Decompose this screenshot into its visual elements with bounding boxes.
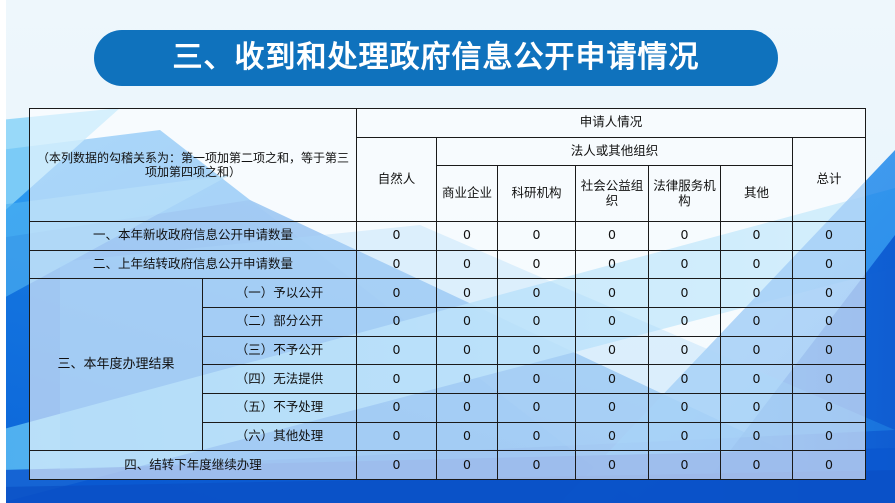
cell-value: 0 xyxy=(576,365,649,394)
cell-value: 0 xyxy=(576,451,649,480)
cell-value: 0 xyxy=(357,250,437,279)
cell-value: 0 xyxy=(721,307,793,336)
cell-value: 0 xyxy=(437,422,498,451)
cell-value: 0 xyxy=(576,221,649,250)
cell-value: 0 xyxy=(437,307,498,336)
cell-value: 0 xyxy=(498,451,576,480)
subrow-label-other-processing: （六）其他处理 xyxy=(203,422,357,451)
row-label-carried-over: 二、上年结转政府信息公开申请数量 xyxy=(30,250,357,279)
cell-value: 0 xyxy=(793,422,866,451)
cell-value: 0 xyxy=(793,365,866,394)
cell-value: 0 xyxy=(793,336,866,365)
cell-value: 0 xyxy=(576,250,649,279)
cell-value: 0 xyxy=(793,279,866,308)
cell-value: 0 xyxy=(721,250,793,279)
table-row: 一、本年新收政府信息公开申请数量 0 0 0 0 0 0 0 xyxy=(30,221,866,250)
row-label-new-received: 一、本年新收政府信息公开申请数量 xyxy=(30,221,357,250)
cell-value: 0 xyxy=(576,422,649,451)
cell-value: 0 xyxy=(576,307,649,336)
header-col-commercial-enterprise: 商业企业 xyxy=(437,166,498,222)
cell-value: 0 xyxy=(357,279,437,308)
application-statistics-table: （本列数据的勾稽关系为：第一项加第二项之和，等于第三项加第四项之和） 申请人情况… xyxy=(29,108,865,480)
header-col-other: 其他 xyxy=(721,166,793,222)
cell-value: 0 xyxy=(793,307,866,336)
cell-value: 0 xyxy=(721,221,793,250)
cell-value: 0 xyxy=(437,279,498,308)
cell-value: 0 xyxy=(649,279,721,308)
subrow-label-not-disclosed: （三）不予公开 xyxy=(203,336,357,365)
header-col-total: 总计 xyxy=(793,137,866,221)
cell-value: 0 xyxy=(498,365,576,394)
header-col-legal-service-org: 法律服务机构 xyxy=(649,166,721,222)
cell-value: 0 xyxy=(498,336,576,365)
table-row: 二、上年结转政府信息公开申请数量 0 0 0 0 0 0 0 xyxy=(30,250,866,279)
table-row: 三、本年度办理结果 （一）予以公开 0 0 0 0 0 0 0 xyxy=(30,279,866,308)
cell-value: 0 xyxy=(649,422,721,451)
cell-value: 0 xyxy=(357,365,437,394)
cell-value: 0 xyxy=(721,393,793,422)
cell-value: 0 xyxy=(357,422,437,451)
cell-value: 0 xyxy=(649,221,721,250)
header-col-natural-person: 自然人 xyxy=(357,137,437,221)
row-label-processing-results: 三、本年度办理结果 xyxy=(30,279,203,451)
cell-value: 0 xyxy=(498,393,576,422)
header-col-research-institution: 科研机构 xyxy=(498,166,576,222)
cell-value: 0 xyxy=(498,422,576,451)
cell-value: 0 xyxy=(357,221,437,250)
cell-value: 0 xyxy=(649,393,721,422)
subrow-label-partial-disclosure: （二）部分公开 xyxy=(203,307,357,336)
cell-value: 0 xyxy=(437,365,498,394)
cell-value: 0 xyxy=(576,393,649,422)
subrow-label-not-processed: （五）不予处理 xyxy=(203,393,357,422)
subrow-label-disclosed: （一）予以公开 xyxy=(203,279,357,308)
row-label-carry-forward-next-year: 四、结转下年度继续办理 xyxy=(30,451,357,480)
cell-value: 0 xyxy=(498,279,576,308)
cell-value: 0 xyxy=(721,422,793,451)
cell-value: 0 xyxy=(721,365,793,394)
table-header-row-1: （本列数据的勾稽关系为：第一项加第二项之和，等于第三项加第四项之和） 申请人情况 xyxy=(30,109,866,138)
cell-value: 0 xyxy=(437,336,498,365)
header-applicant-group: 申请人情况 xyxy=(357,109,866,138)
cell-value: 0 xyxy=(498,250,576,279)
cell-value: 0 xyxy=(721,451,793,480)
section-title-banner: 三、收到和处理政府信息公开申请情况 xyxy=(94,30,778,86)
cell-value: 0 xyxy=(721,336,793,365)
cell-value: 0 xyxy=(793,393,866,422)
cell-value: 0 xyxy=(357,393,437,422)
cell-value: 0 xyxy=(649,365,721,394)
cell-value: 0 xyxy=(649,250,721,279)
note-cell: （本列数据的勾稽关系为：第一项加第二项之和，等于第三项加第四项之和） xyxy=(30,109,357,222)
cell-value: 0 xyxy=(437,451,498,480)
cell-value: 0 xyxy=(793,451,866,480)
table-row: 四、结转下年度继续办理 0 0 0 0 0 0 0 xyxy=(30,451,866,480)
cell-value: 0 xyxy=(498,221,576,250)
cell-value: 0 xyxy=(793,221,866,250)
left-margin-strip xyxy=(0,0,6,503)
header-col-public-welfare-org: 社会公益组织 xyxy=(576,166,649,222)
cell-value: 0 xyxy=(357,307,437,336)
cell-value: 0 xyxy=(437,393,498,422)
cell-value: 0 xyxy=(357,451,437,480)
cell-value: 0 xyxy=(576,336,649,365)
cell-value: 0 xyxy=(576,279,649,308)
cell-value: 0 xyxy=(498,307,576,336)
cell-value: 0 xyxy=(649,451,721,480)
subrow-label-unable-to-provide: （四）无法提供 xyxy=(203,365,357,394)
cell-value: 0 xyxy=(793,250,866,279)
cell-value: 0 xyxy=(357,336,437,365)
slide-canvas: 三、收到和处理政府信息公开申请情况 （本列数据的勾稽关系为：第一项加第二项之和，… xyxy=(0,0,895,503)
page-title: 三、收到和处理政府信息公开申请情况 xyxy=(173,43,700,73)
header-legal-entity-group: 法人或其他组织 xyxy=(437,137,793,166)
cell-value: 0 xyxy=(437,221,498,250)
cell-value: 0 xyxy=(649,336,721,365)
cell-value: 0 xyxy=(649,307,721,336)
cell-value: 0 xyxy=(721,279,793,308)
cell-value: 0 xyxy=(437,250,498,279)
